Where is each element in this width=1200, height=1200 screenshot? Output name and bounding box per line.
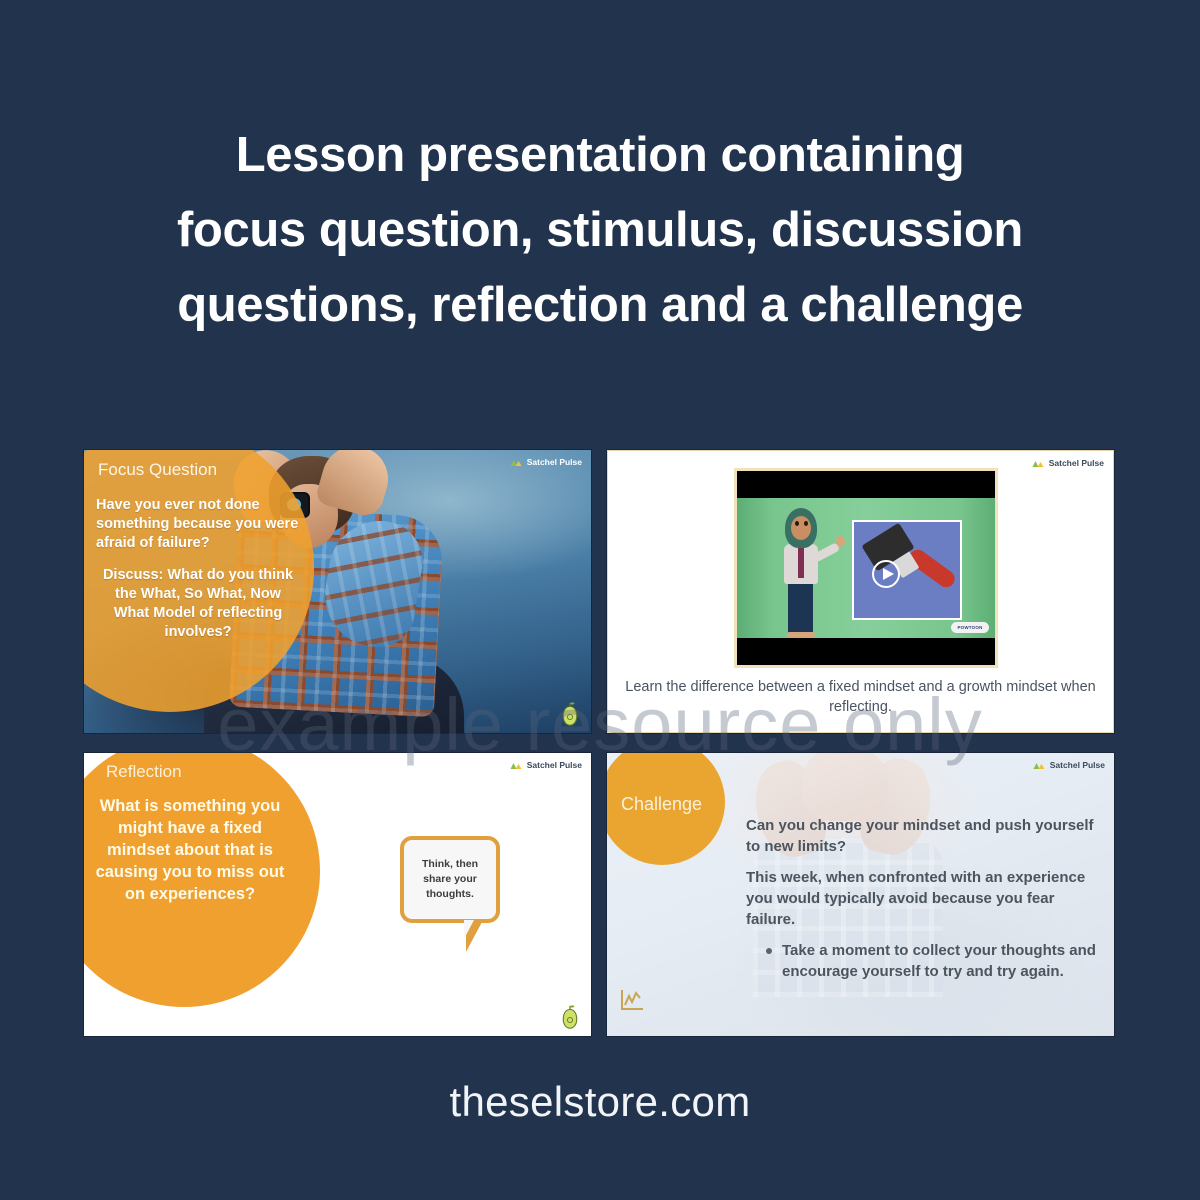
focus-question-text: Have you ever not done something because… — [96, 496, 301, 553]
brand-name: Satchel Pulse — [527, 760, 582, 770]
mountain-logo-icon — [510, 458, 523, 467]
character-trousers — [788, 580, 813, 634]
brand-name: Satchel Pulse — [1050, 760, 1105, 770]
slide-challenge[interactable]: Satchel Pulse Challenge Can you change y… — [607, 753, 1114, 1036]
slide-title: Reflection — [106, 762, 182, 782]
page-title-line-3: questions, reflection and a challenge — [70, 268, 1130, 343]
video-letterbox-top — [737, 471, 995, 498]
video-player[interactable]: POWTOON — [734, 468, 998, 668]
page-title-line-1: Lesson presentation containing — [70, 118, 1130, 193]
line-chart-icon — [619, 988, 645, 1012]
character-hand — [836, 536, 845, 547]
animated-character — [779, 508, 823, 636]
list-item: Take a moment to collect your thoughts a… — [782, 940, 1104, 982]
brand-logo: Satchel Pulse — [510, 760, 582, 770]
character-feet — [787, 632, 815, 637]
page-title-line-2: focus question, stimulus, discussion — [70, 193, 1130, 268]
character-scarf — [798, 544, 804, 578]
page-title: Lesson presentation containing focus que… — [0, 118, 1200, 343]
challenge-body: Can you change your mindset and push you… — [746, 815, 1104, 982]
challenge-bullet-list: Take a moment to collect your thoughts a… — [746, 940, 1104, 982]
mountain-logo-icon — [1033, 761, 1046, 770]
video-frame: POWTOON — [737, 498, 995, 638]
character-eye-left — [795, 521, 799, 526]
video-letterbox-bottom — [737, 638, 995, 665]
character-eye-right — [804, 521, 808, 526]
speech-bubble-text: Think, then share your thoughts. — [404, 840, 496, 919]
challenge-paragraph-1: Can you change your mindset and push you… — [746, 815, 1104, 857]
brand-logo: Satchel Pulse — [510, 457, 582, 467]
pear-icon — [561, 1004, 579, 1030]
play-button-icon[interactable] — [872, 560, 900, 588]
speech-bubble: Think, then share your thoughts. — [400, 836, 500, 923]
slide-title: Challenge — [621, 794, 702, 815]
stimulus-caption: Learn the difference between a fixed min… — [608, 677, 1113, 717]
pear-icon — [561, 701, 579, 727]
poster: Lesson presentation containing focus que… — [0, 0, 1200, 1200]
brand-logo: Satchel Pulse — [1032, 458, 1104, 468]
powtoon-watermark: POWTOON — [951, 622, 989, 633]
site-url: theselstore.com — [0, 1078, 1200, 1126]
reflection-question-text: What is something you might have a fixed… — [90, 795, 290, 905]
challenge-paragraph-2: This week, when confronted with an exper… — [746, 867, 1104, 930]
character-face — [791, 516, 811, 540]
slide-grid: Focus Question Have you ever not done so… — [84, 450, 1114, 1036]
slide-reflection[interactable]: Satchel Pulse Reflection What is somethi… — [84, 753, 591, 1036]
mountain-logo-icon — [1032, 459, 1045, 468]
slide-focus-question[interactable]: Focus Question Have you ever not done so… — [84, 450, 591, 733]
mountain-logo-icon — [510, 761, 523, 770]
brand-name: Satchel Pulse — [527, 457, 582, 467]
paintbrush-illustration — [852, 520, 962, 620]
focus-discuss-text: Discuss: What do you think the What, So … — [98, 566, 298, 642]
brand-logo: Satchel Pulse — [1033, 760, 1105, 770]
speech-bubble-tail-inner — [464, 920, 474, 939]
slide-stimulus-video[interactable]: Satchel Pulse — [607, 450, 1114, 733]
slide-title: Focus Question — [98, 460, 217, 480]
brand-name: Satchel Pulse — [1049, 458, 1104, 468]
